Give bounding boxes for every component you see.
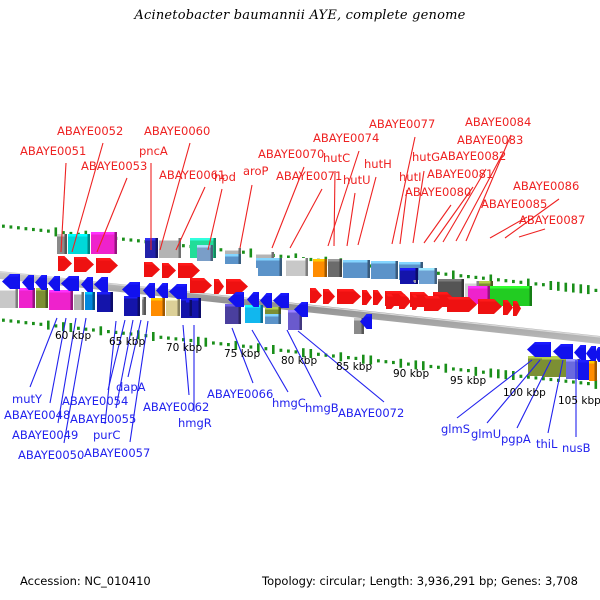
gene-box-shadow bbox=[306, 258, 309, 276]
arrow-highlight bbox=[478, 299, 496, 302]
gene-box-shadow bbox=[414, 280, 417, 282]
gene-box-shadow bbox=[462, 279, 465, 297]
green-tick bbox=[430, 365, 433, 368]
gene-box-highlight bbox=[256, 252, 274, 255]
gene-box-shadow bbox=[211, 245, 214, 261]
green-tick bbox=[17, 226, 20, 229]
scale-label: 100 kbp bbox=[503, 387, 546, 399]
green-tick bbox=[130, 238, 133, 241]
arrow-highlight bbox=[226, 279, 242, 282]
gene-box bbox=[97, 292, 113, 312]
accession-text: Accession: NC_010410 bbox=[20, 574, 151, 588]
gene-label-arop: aroP bbox=[243, 164, 269, 178]
green-tick bbox=[280, 349, 283, 352]
gene-label-glms: glmS bbox=[441, 422, 470, 436]
green-tick bbox=[520, 375, 523, 378]
gene-box bbox=[328, 259, 342, 277]
green-tick bbox=[437, 272, 440, 275]
arrow-highlight bbox=[424, 296, 440, 299]
gene-box bbox=[313, 259, 327, 277]
genome-map-page: Acinetobacter baumannii AYE, complete ge… bbox=[0, 0, 600, 600]
gene-label-abaye0066: ABAYE0066 bbox=[207, 387, 273, 401]
green-tick bbox=[355, 357, 358, 360]
arrow-highlight bbox=[175, 284, 187, 287]
arrow-highlight bbox=[533, 342, 551, 345]
gene-label-abaye0081: ABAYE0081 bbox=[427, 167, 493, 181]
gene-box bbox=[74, 292, 84, 310]
arrow-highlight bbox=[596, 347, 600, 350]
green-tick bbox=[535, 376, 538, 379]
gene-label-abaye0052: ABAYE0052 bbox=[57, 124, 123, 138]
gene-label-pnca: pncA bbox=[139, 144, 168, 158]
gene-box-highlight bbox=[400, 268, 418, 271]
gene-box-highlight bbox=[419, 268, 437, 271]
gene-box bbox=[542, 357, 570, 377]
green-tick bbox=[550, 378, 553, 381]
gene-box-shadow bbox=[190, 300, 193, 316]
gene-box-shadow bbox=[138, 296, 141, 316]
gene-box-shadow bbox=[111, 292, 114, 312]
arrow-highlight bbox=[559, 344, 573, 347]
arrow-highlight bbox=[337, 289, 355, 292]
gene-box bbox=[589, 361, 597, 381]
green-tick bbox=[475, 276, 478, 279]
green-tick bbox=[437, 366, 440, 369]
green-tick bbox=[505, 370, 508, 379]
strand-arrow bbox=[74, 257, 94, 272]
green-tick bbox=[490, 369, 493, 378]
green-tick bbox=[400, 359, 403, 368]
gene-label-muty: mutY bbox=[12, 392, 43, 406]
scale-label: 65 kbp bbox=[109, 336, 145, 348]
genome-map-graphic: ABAYE0051ABAYE0052ABAYE0053ABAYE0060pncA… bbox=[0, 0, 600, 600]
scale-label: 70 kbp bbox=[166, 342, 202, 354]
green-tick bbox=[227, 343, 230, 346]
scale-label: 85 kbp bbox=[336, 361, 372, 373]
green-tick bbox=[32, 322, 35, 325]
gene-box-shadow bbox=[261, 305, 264, 323]
green-tick bbox=[587, 285, 590, 294]
gene-box-shadow bbox=[178, 298, 181, 316]
green-tick bbox=[280, 255, 283, 258]
gene-label-huth: hutH bbox=[364, 157, 392, 171]
green-tick bbox=[2, 319, 5, 322]
gene-label-hutu: hutU bbox=[343, 173, 371, 187]
gene-box-body bbox=[68, 234, 90, 254]
strand-arrow bbox=[162, 263, 176, 278]
green-tick bbox=[25, 227, 28, 230]
green-tick bbox=[47, 321, 50, 330]
gene-box-shadow bbox=[115, 232, 118, 254]
gene-box-shadow bbox=[595, 361, 598, 381]
green-tick bbox=[167, 337, 170, 340]
green-tick bbox=[10, 225, 13, 228]
green-tick bbox=[557, 282, 560, 291]
gene-box-shadow bbox=[93, 292, 96, 310]
gene-box bbox=[68, 234, 90, 254]
gene-label-dapa: dapA bbox=[116, 380, 146, 394]
green-tick bbox=[250, 249, 253, 258]
gene-box-shadow bbox=[340, 259, 343, 277]
gene-label-abaye0049: ABAYE0049 bbox=[12, 428, 78, 442]
gene-box-body bbox=[258, 258, 282, 276]
gene-box bbox=[85, 292, 95, 310]
green-tick bbox=[497, 369, 500, 378]
green-tick bbox=[452, 271, 455, 280]
green-tick bbox=[565, 283, 568, 292]
gene-label-hutg: hutG bbox=[412, 150, 440, 164]
scale-label: 60 kbp bbox=[55, 330, 91, 342]
gene-box-shadow bbox=[396, 261, 399, 279]
strand-arrow bbox=[81, 277, 93, 292]
gene-box-shadow bbox=[65, 234, 68, 254]
green-tick bbox=[310, 258, 313, 261]
green-tick bbox=[460, 274, 463, 277]
green-tick bbox=[32, 228, 35, 231]
green-tick bbox=[460, 368, 463, 371]
gene-box bbox=[197, 245, 213, 261]
strand-arrow bbox=[94, 277, 108, 292]
gene-box-shadow bbox=[46, 288, 49, 308]
green-tick bbox=[587, 382, 590, 385]
genome-stats-text: Topology: circular; Length: 3,936,291 bp… bbox=[262, 574, 578, 588]
gene-label-abaye0072: ABAYE0072 bbox=[338, 406, 404, 420]
green-tick bbox=[377, 359, 380, 362]
gene-box bbox=[286, 258, 308, 276]
gene-label-huti: hutI bbox=[399, 170, 421, 184]
arrow-highlight bbox=[128, 282, 140, 285]
green-tick bbox=[175, 337, 178, 340]
green-tick bbox=[385, 360, 388, 363]
gene-box bbox=[343, 260, 370, 278]
gene-box-shadow bbox=[280, 258, 283, 276]
green-tick bbox=[40, 229, 43, 232]
gene-label-abaye0051: ABAYE0051 bbox=[20, 144, 86, 158]
gene-label-hmgb: hmgB bbox=[305, 401, 339, 415]
strand-arrow bbox=[310, 288, 322, 303]
gene-label-abaye0050: ABAYE0050 bbox=[18, 448, 84, 462]
gene-box-highlight bbox=[343, 260, 370, 263]
green-tick bbox=[565, 380, 568, 383]
green-tick bbox=[152, 332, 155, 341]
strand-arrow bbox=[527, 342, 551, 357]
scale-label: 95 kbp bbox=[450, 375, 486, 387]
gene-box-shadow bbox=[33, 288, 36, 308]
scale-label: 105 kbp bbox=[558, 395, 600, 407]
arrow-highlight bbox=[447, 297, 471, 300]
gene-box bbox=[225, 254, 241, 264]
gene-box bbox=[186, 300, 192, 316]
gene-box bbox=[0, 288, 18, 308]
gene-box-highlight bbox=[68, 234, 90, 237]
gene-box bbox=[419, 268, 437, 284]
gene-label-hpd: hpd bbox=[214, 170, 236, 184]
scale-label: 75 kbp bbox=[224, 348, 260, 360]
strand-arrow bbox=[144, 262, 160, 277]
green-tick bbox=[182, 244, 185, 247]
gene-box-shadow bbox=[88, 234, 91, 254]
gene-box bbox=[151, 298, 165, 316]
green-tick bbox=[160, 336, 163, 339]
label-leader-line bbox=[183, 325, 189, 395]
green-tick bbox=[595, 289, 598, 292]
gene-box bbox=[371, 261, 398, 279]
green-tick bbox=[122, 238, 125, 241]
gene-box-highlight bbox=[438, 279, 464, 282]
green-tick bbox=[220, 342, 223, 345]
green-tick bbox=[580, 284, 583, 293]
strand-arrow bbox=[58, 256, 72, 271]
strand-arrow bbox=[96, 258, 118, 273]
strand-arrow bbox=[178, 263, 200, 278]
gene-label-abaye0071: ABAYE0071 bbox=[276, 169, 342, 183]
green-tick bbox=[482, 371, 485, 374]
strand-arrow bbox=[373, 290, 383, 305]
green-tick bbox=[520, 281, 523, 284]
strand-arrow bbox=[399, 294, 411, 309]
gene-box-highlight bbox=[399, 262, 423, 265]
gene-box-shadow bbox=[71, 290, 74, 310]
gene-box bbox=[142, 297, 146, 315]
gene-box bbox=[258, 258, 282, 276]
gene-box-shadow bbox=[144, 297, 147, 315]
arrow-highlight bbox=[178, 263, 194, 266]
gene-label-purc: purC bbox=[93, 428, 120, 442]
arrow-highlight bbox=[410, 292, 426, 295]
gene-label-abaye0074: ABAYE0074 bbox=[313, 131, 379, 145]
gene-label-hmgr: hmgR bbox=[178, 416, 212, 430]
gene-box bbox=[36, 288, 48, 308]
green-tick bbox=[332, 354, 335, 357]
gene-box bbox=[566, 359, 580, 379]
strand-arrow bbox=[214, 279, 224, 294]
gene-box bbox=[49, 290, 73, 310]
green-tick bbox=[317, 353, 320, 356]
green-tick bbox=[242, 251, 245, 254]
gene-box-shadow bbox=[214, 238, 217, 258]
gene-box-shadow bbox=[325, 259, 328, 277]
gene-label-abaye0057: ABAYE0057 bbox=[84, 446, 150, 460]
green-tick bbox=[497, 278, 500, 281]
label-leader-line bbox=[519, 229, 545, 237]
strand-arrow bbox=[586, 346, 596, 361]
green-tick bbox=[55, 227, 58, 236]
gene-box-body bbox=[49, 290, 73, 310]
gene-box-shadow bbox=[279, 314, 282, 324]
green-tick bbox=[92, 328, 95, 331]
arrow-highlight bbox=[433, 292, 449, 295]
green-tick bbox=[505, 279, 508, 282]
label-leader-line bbox=[160, 143, 190, 250]
green-tick bbox=[392, 361, 395, 364]
arrow-highlight bbox=[96, 258, 112, 261]
gene-label-abaye0080: ABAYE0080 bbox=[405, 185, 471, 199]
green-tick bbox=[467, 275, 470, 278]
gene-box-highlight bbox=[258, 258, 282, 261]
strand-arrow bbox=[122, 282, 140, 297]
green-tick bbox=[137, 239, 140, 242]
label-leader-line bbox=[240, 185, 252, 248]
arrow-highlight bbox=[74, 257, 88, 260]
strand-arrow bbox=[337, 289, 361, 304]
gene-label-abaye0086: ABAYE0086 bbox=[513, 179, 579, 193]
arrow-highlight bbox=[190, 278, 206, 281]
arrow-highlight bbox=[67, 276, 79, 279]
gene-box-body bbox=[371, 261, 398, 279]
gene-box bbox=[19, 288, 35, 308]
green-tick bbox=[265, 347, 268, 350]
green-tick bbox=[47, 230, 50, 233]
label-leader-line bbox=[30, 318, 57, 387]
gene-label-abaye0054: ABAYE0054 bbox=[62, 394, 128, 408]
green-tick bbox=[595, 380, 598, 389]
gene-label-abaye0055: ABAYE0055 bbox=[70, 412, 136, 426]
gene-box bbox=[265, 314, 281, 324]
green-tick bbox=[40, 323, 43, 326]
green-tick bbox=[347, 356, 350, 359]
label-leader-line bbox=[347, 193, 355, 246]
gene-box-body bbox=[0, 288, 18, 308]
gene-box-highlight bbox=[468, 286, 490, 289]
green-tick bbox=[512, 280, 515, 283]
gene-label-abaye0087: ABAYE0087 bbox=[519, 213, 585, 227]
arrow-highlight bbox=[385, 291, 403, 294]
gene-label-abaye0062: ABAYE0062 bbox=[143, 400, 209, 414]
green-tick bbox=[572, 284, 575, 293]
label-leader-line bbox=[290, 189, 322, 248]
forward-gene-labels: ABAYE0051ABAYE0052ABAYE0053ABAYE0060pncA… bbox=[20, 115, 585, 227]
green-tick bbox=[287, 350, 290, 353]
green-tick bbox=[445, 273, 448, 276]
gene-box-shadow bbox=[199, 298, 202, 318]
green-tick bbox=[272, 345, 275, 354]
green-tick bbox=[482, 277, 485, 280]
green-tick bbox=[2, 225, 5, 228]
strand-arrow bbox=[362, 290, 372, 305]
gene-box-body bbox=[245, 305, 263, 323]
gene-label-thil: thiL bbox=[536, 437, 558, 451]
gene-label-pgpa: pgpA bbox=[501, 432, 531, 446]
gene-label-hutc: hutC bbox=[323, 151, 350, 165]
gene-label-hmgc: hmgC bbox=[272, 396, 306, 410]
gene-box-shadow bbox=[368, 260, 371, 278]
strand-arrow bbox=[190, 278, 212, 293]
gene-box-highlight bbox=[286, 258, 308, 261]
green-tick bbox=[452, 367, 455, 370]
green-tick bbox=[580, 381, 583, 384]
gene-label-abaye0085: ABAYE0085 bbox=[481, 197, 547, 211]
gene-label-abaye0070: ABAYE0070 bbox=[258, 147, 324, 161]
gene-box-highlight bbox=[490, 286, 532, 289]
gene-box-shadow bbox=[530, 286, 533, 306]
gene-box-body bbox=[542, 357, 570, 377]
gene-box-highlight bbox=[371, 261, 398, 264]
strand-arrow bbox=[323, 289, 335, 304]
gene-label-abaye0048: ABAYE0048 bbox=[4, 408, 70, 422]
green-tick bbox=[220, 248, 223, 251]
green-tick bbox=[467, 369, 470, 372]
gene-label-abaye0053: ABAYE0053 bbox=[81, 159, 147, 173]
label-leader-line bbox=[358, 177, 376, 245]
gene-label-abaye0082: ABAYE0082 bbox=[440, 149, 506, 163]
gene-box-highlight bbox=[190, 238, 216, 241]
strand-arrow bbox=[143, 283, 155, 298]
green-tick bbox=[25, 321, 28, 324]
gene-label-abaye0084: ABAYE0084 bbox=[465, 115, 531, 129]
gene-label-abaye0060: ABAYE0060 bbox=[144, 124, 210, 138]
gene-box-body bbox=[286, 258, 308, 276]
green-tick bbox=[572, 380, 575, 383]
gene-box-body bbox=[343, 260, 370, 278]
gene-label-abaye0083: ABAYE0083 bbox=[457, 133, 523, 147]
gene-box-shadow bbox=[16, 288, 19, 308]
green-tick bbox=[205, 338, 208, 347]
green-tick bbox=[550, 281, 553, 290]
green-tick bbox=[107, 330, 110, 333]
green-tick bbox=[535, 282, 538, 285]
gene-box bbox=[245, 305, 263, 323]
gene-label-glmu: glmU bbox=[471, 427, 501, 441]
green-tick bbox=[212, 341, 215, 344]
green-tick bbox=[10, 319, 13, 322]
green-tick bbox=[100, 326, 103, 335]
gene-box-shadow bbox=[435, 268, 438, 284]
green-tick bbox=[295, 350, 298, 353]
green-tick bbox=[542, 283, 545, 286]
gene-box bbox=[124, 296, 140, 316]
gene-box bbox=[166, 298, 180, 316]
scale-label: 90 kbp bbox=[393, 368, 429, 380]
scale-label: 80 kbp bbox=[281, 355, 317, 367]
green-tick bbox=[407, 363, 410, 366]
arrow-highlight bbox=[8, 274, 20, 277]
strand-arrow bbox=[574, 345, 586, 360]
label-leader-line bbox=[128, 320, 141, 377]
gene-box-shadow bbox=[239, 254, 242, 264]
green-tick bbox=[340, 352, 343, 361]
gene-label-nusb: nusB bbox=[562, 441, 591, 455]
gene-label-abaye0077: ABAYE0077 bbox=[369, 117, 435, 131]
green-tick bbox=[17, 320, 20, 323]
gene-box-shadow bbox=[156, 238, 159, 258]
gene-box-shadow bbox=[82, 292, 85, 310]
strand-arrow bbox=[226, 279, 248, 294]
green-tick bbox=[445, 364, 448, 373]
gene-box-shadow bbox=[163, 298, 166, 316]
